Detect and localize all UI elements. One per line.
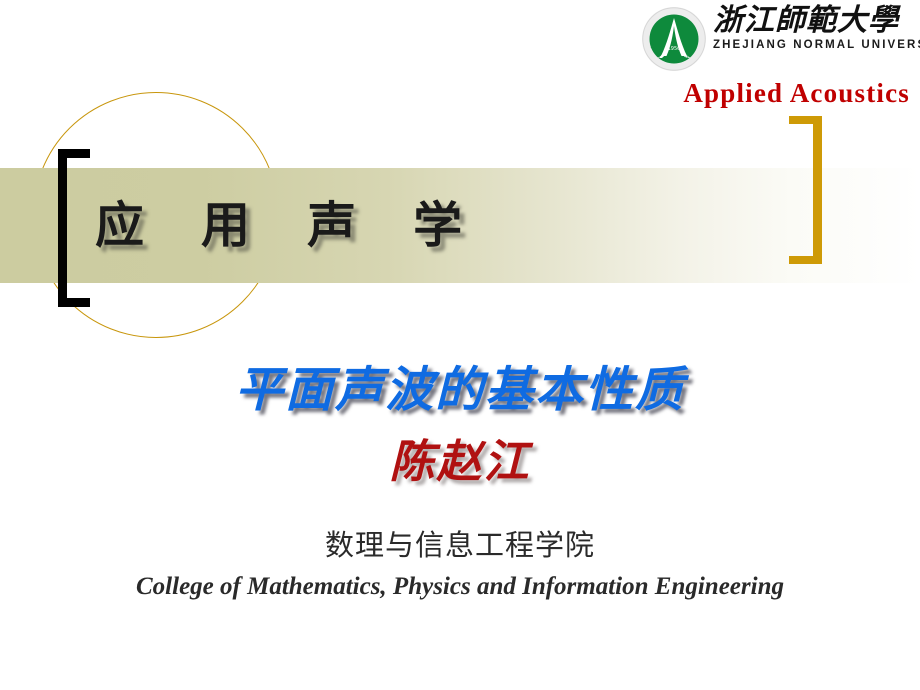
left-bracket-bottom-arm [58, 298, 90, 307]
university-name-cn: 浙江師範大學 [713, 6, 920, 36]
university-wordmark: 浙江師範大學 ZHEJIANG NORMAL UNIVERSITY [713, 6, 920, 51]
right-bracket-stem [813, 116, 822, 264]
presentation-slide: 应 用 声 学 1956 浙江师范大学 ZHEJIANG NORMAL UNIV… [0, 0, 920, 690]
course-title-cn: 应 用 声 学 [95, 186, 482, 257]
affiliation-cn: 数理与信息工程学院 [0, 522, 920, 564]
right-bracket-bottom-arm [789, 256, 822, 264]
university-branding-block: 1956 浙江师范大学 ZHEJIANG NORMAL UNIVERSITY 浙… [641, 6, 916, 76]
left-bracket-stem [58, 149, 67, 307]
university-name-en: ZHEJIANG NORMAL UNIVERSITY [713, 39, 920, 51]
left-bracket-decoration [58, 149, 90, 307]
university-emblem-icon: 1956 浙江师范大学 ZHEJIANG NORMAL UNIVERSITY [641, 6, 707, 72]
course-label-en: Applied Acoustics [683, 78, 910, 109]
slide-heading-cn: 平面声波的基本性质 [0, 350, 920, 420]
right-bracket-decoration [789, 116, 822, 264]
presenter-name-cn: 陈赵江 [0, 425, 920, 490]
affiliation-en: College of Mathematics, Physics and Info… [0, 573, 920, 601]
svg-text:1956: 1956 [668, 46, 681, 52]
